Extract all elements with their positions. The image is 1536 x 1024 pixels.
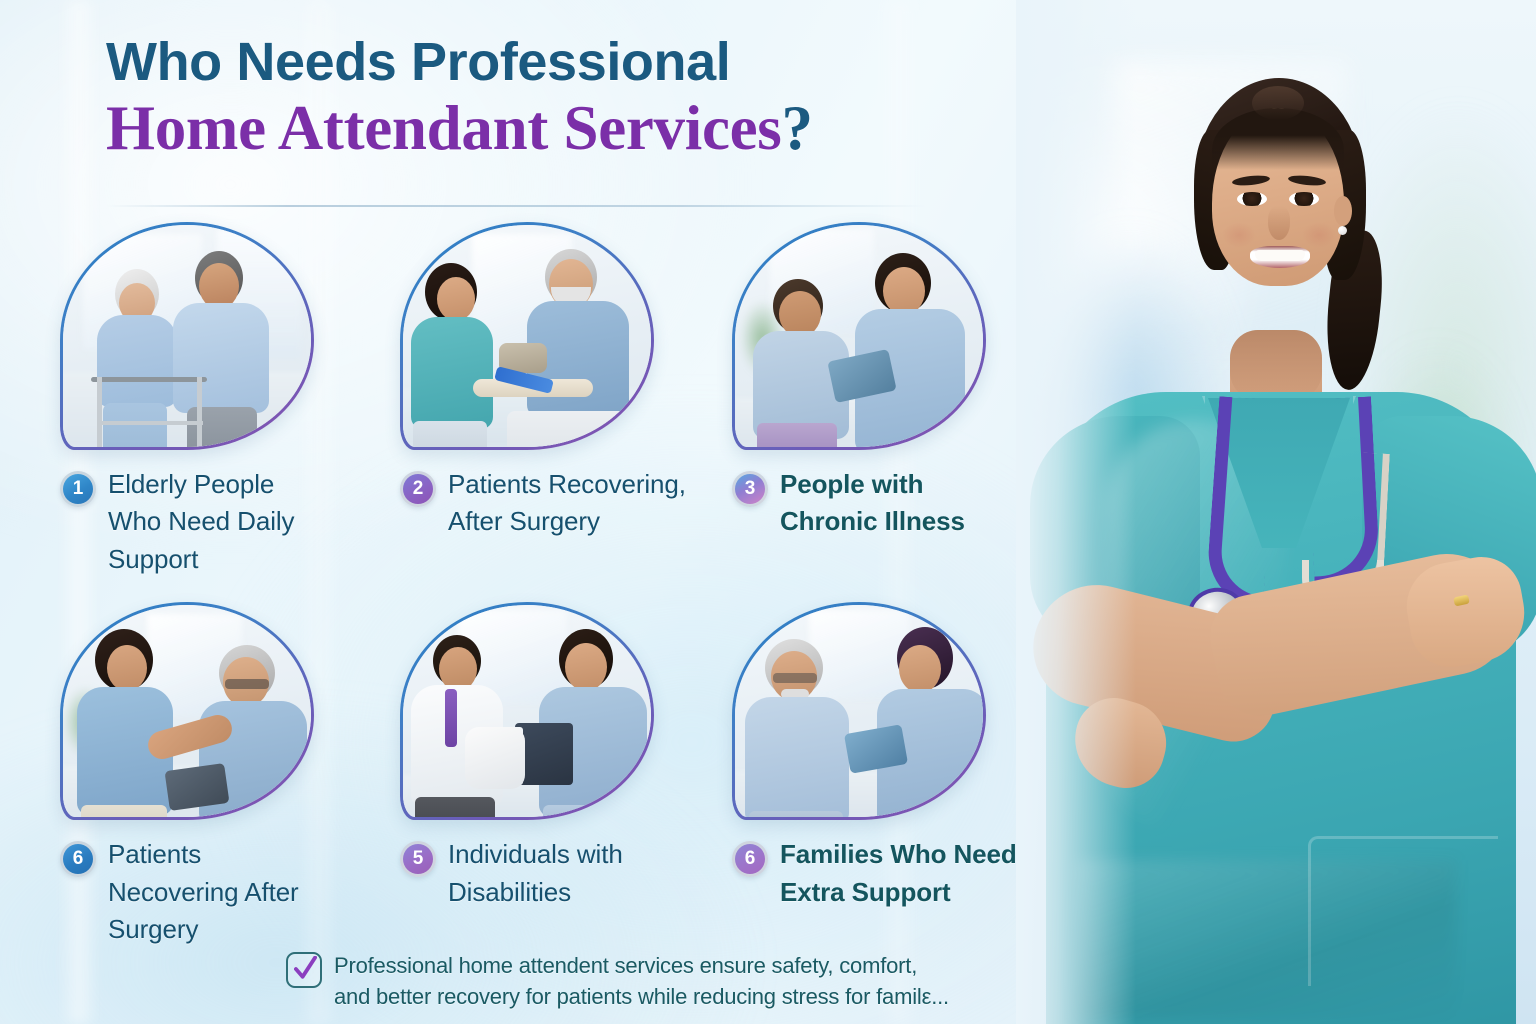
card-4-line-2: Necovering After [108,874,299,911]
title-divider [106,205,926,207]
card-1-text: Elderly People Who Need Daily Support [108,466,294,578]
title-line-1: Who Needs Professional [106,34,1046,90]
title-line-2-text: Home Attendant Services [106,93,782,163]
card-1-number-badge: 1 [60,471,96,507]
footer-line-1: Professional home attendent services ens… [334,950,949,981]
infographic-canvas: Who Needs Professional Home Attendant Se… [0,0,1536,1024]
title-question-mark: ? [782,93,813,163]
card-2-photo-frame [400,222,654,450]
card-3-line-1: People with [780,466,965,503]
card-6-line-2: Extra Support [780,874,1017,911]
card-2[interactable]: 2 Patients Recovering, After Surgery [400,222,732,578]
card-3-number-badge: 3 [732,471,768,507]
cards-row-1: 1 Elderly People Who Need Daily Support [60,222,1060,578]
card-6[interactable]: 6 Families Who Need Extra Support [732,602,1060,948]
card-6-photo-frame [732,602,986,820]
scene-elderly-with-walker [63,225,311,447]
card-4-number-badge: 6 [60,841,96,877]
nurse-nose [1268,206,1290,240]
footer-text: Professional home attendent services ens… [334,950,949,1012]
card-5[interactable]: 5 Individuals with Disabilities [400,602,732,948]
card-1-line-1: Elderly People [108,466,294,503]
card-6-line-1: Families Who Need [780,836,1017,873]
cards-grid: 1 Elderly People Who Need Daily Support [60,222,1060,949]
card-4-line-3: Surgery [108,911,299,948]
card-3[interactable]: 3 People with Chronic Illness [732,222,1060,578]
card-1[interactable]: 1 Elderly People Who Need Daily Support [60,222,400,578]
card-4[interactable]: 6 Patients Necovering After Surgery [60,602,400,948]
checkmark-icon [294,956,317,984]
checkbox[interactable] [286,952,322,988]
nurse-left-cheek [1222,222,1256,248]
card-5-line-2: Disabilities [448,874,623,911]
card-5-photo-frame [400,602,654,820]
scene-tablet-with-senior [735,605,983,817]
card-2-line-1: Patients Recovering, [448,466,686,503]
card-1-line-2: Who Need Daily [108,503,294,540]
footer-callout: Professional home attendent services ens… [286,950,1086,1012]
card-5-label: 5 Individuals with Disabilities [400,836,732,911]
card-1-line-3: Support [108,541,294,578]
card-6-label: 6 Families Who Need Extra Support [732,836,1060,911]
card-5-photo [403,605,651,817]
nurse-hair-part [1252,86,1304,120]
cards-row-2: 6 Patients Necovering After Surgery [60,602,1060,948]
nurse-neck-shadow [1230,330,1322,400]
card-6-number-badge: 6 [732,841,768,877]
card-1-label: 1 Elderly People Who Need Daily Support [60,466,400,578]
card-5-text: Individuals with Disabilities [448,836,623,911]
nurse-teeth [1255,250,1305,261]
title-line-2: Home Attendant Services? [106,96,1046,160]
card-4-label: 6 Patients Necovering After Surgery [60,836,400,948]
card-6-photo [735,605,983,817]
scene-doctor-and-nurse-notes [403,605,651,817]
nurse-left-eye [1237,192,1267,206]
card-3-label: 3 People with Chronic Illness [732,466,1060,541]
card-3-photo-frame [732,222,986,450]
nurse-right-eye [1289,192,1319,206]
card-4-photo [63,605,311,817]
card-6-text: Families Who Need Extra Support [780,836,1017,911]
card-2-text: Patients Recovering, After Surgery [448,466,686,541]
hero-nurse-photo [1016,0,1536,1024]
card-1-photo-frame [60,222,314,450]
card-2-label: 2 Patients Recovering, After Surgery [400,466,732,541]
card-5-number-badge: 5 [400,841,436,877]
scene-blood-pressure-check [403,225,651,447]
card-4-text: Patients Necovering After Surgery [108,836,299,948]
nurse-right-cheek [1302,222,1336,248]
page-title: Who Needs Professional Home Attendant Se… [106,34,1046,160]
card-3-line-2: Chronic Illness [780,503,965,540]
nurse-ear [1334,196,1352,226]
card-3-text: People with Chronic Illness [780,466,965,541]
card-2-line-2: After Surgery [448,503,686,540]
scene-tablet-consultation [735,225,983,447]
card-4-line-1: Patients [108,836,299,873]
card-5-line-1: Individuals with [448,836,623,873]
card-2-number-badge: 2 [400,471,436,507]
card-1-photo [63,225,311,447]
scene-nurse-comforting-patient [63,605,311,817]
card-2-photo [403,225,651,447]
nurse-earring [1338,226,1347,235]
footer-line-2: and better recovery for patients while r… [334,981,949,1012]
card-4-photo-frame [60,602,314,820]
card-3-photo [735,225,983,447]
